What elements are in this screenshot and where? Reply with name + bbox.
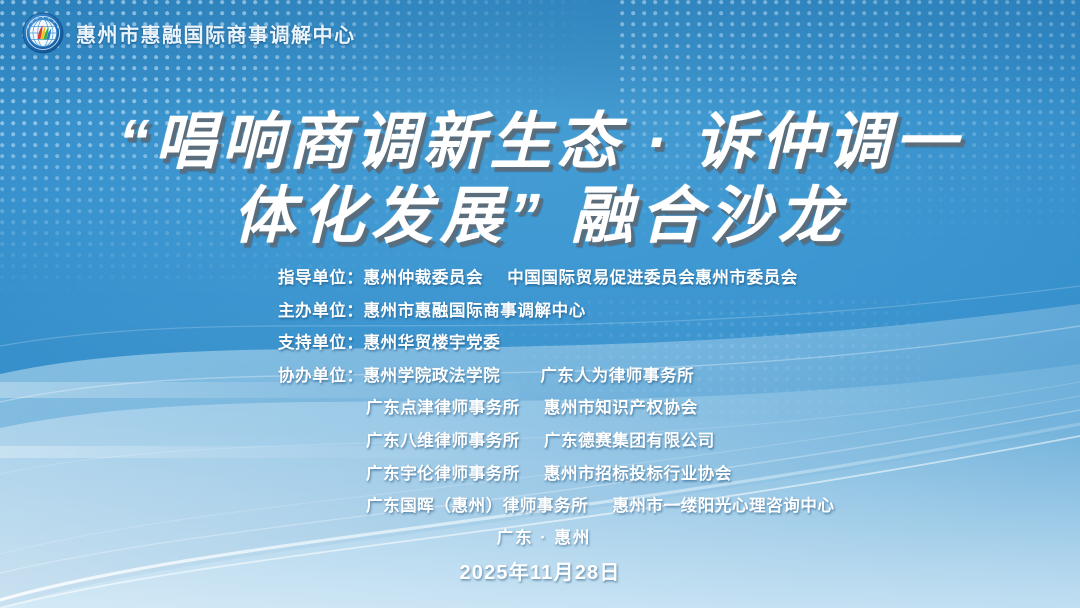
organizer-name: 广东德赛集团有限公司 — [544, 432, 715, 450]
organizer-row: 广东国晖（惠州）律师事务所惠州市一缕阳光心理咨询中心 — [278, 490, 835, 523]
organizer-role-label: 主办单位： — [278, 295, 364, 328]
page-title: “唱响商调新生态 · 诉仲调一 体化发展” 融合沙龙 — [0, 106, 1080, 254]
organizer-role-label: 指导单位： — [278, 262, 364, 295]
organizer-name: 广东人为律师事务所 — [540, 367, 694, 385]
organizer-row: 协办单位：惠州学院政法学院广东人为律师事务所 — [278, 360, 835, 393]
organizers-list: 指导单位：惠州仲裁委员会中国国际贸易促进委员会惠州市委员会主办单位：惠州市惠融国… — [278, 262, 835, 523]
organizer-row: 广东点津律师事务所惠州市知识产权协会 — [278, 392, 835, 425]
organizer-row: 广东八维律师事务所广东德赛集团有限公司 — [278, 425, 835, 458]
organizer-name: 广东八维律师事务所 — [366, 432, 520, 450]
organizer-name: 惠州市一缕阳光心理咨询中心 — [612, 497, 834, 515]
organizer-row: 广东宇伦律师事务所惠州市招标投标行业协会 — [278, 458, 835, 491]
organizer-name: 惠州市招标投标行业协会 — [544, 465, 732, 483]
organizer-role-label: 支持单位： — [278, 327, 364, 360]
organizer-name: 中国国际贸易促进委员会惠州市委员会 — [507, 269, 798, 287]
organizer-name: 广东点津律师事务所 — [366, 399, 520, 417]
organizer-row: 主办单位：惠州市惠融国际商事调解中心 — [278, 295, 835, 328]
organizer-row: 指导单位：惠州仲裁委员会中国国际贸易促进委员会惠州市委员会 — [278, 262, 835, 295]
organizer-name: 惠州华贸楼宇党委 — [364, 334, 501, 352]
organizer-name: 广东国晖（惠州）律师事务所 — [366, 497, 588, 515]
organizer-name: 广东宇伦律师事务所 — [366, 465, 520, 483]
page-title-line-2: 体化发展” 融合沙龙 — [0, 180, 1080, 254]
organizer-name: 惠州市知识产权协会 — [544, 399, 698, 417]
organizer-name: 惠州市惠融国际商事调解中心 — [364, 302, 586, 320]
event-location: 广东 · 惠州 — [0, 524, 1080, 548]
event-date: 2025年11月28日 — [0, 556, 1080, 585]
organizer-role-label: 协办单位： — [278, 360, 364, 393]
header-bar: 惠州市惠融国际商事调解中心 — [0, 0, 1080, 66]
event-footer: 广东 · 惠州 2025年11月28日 — [0, 524, 1080, 585]
poster-canvas: 惠州市惠融国际商事调解中心 “唱响商调新生态 · 诉仲调一 体化发展” 融合沙龙… — [0, 0, 1080, 608]
organizer-name: 惠州仲裁委员会 — [364, 269, 484, 287]
organizer-row: 支持单位：惠州华贸楼宇党委 — [278, 327, 835, 360]
organization-name: 惠州市惠融国际商事调解中心 — [76, 19, 356, 48]
page-title-line-1: “唱响商调新生态 · 诉仲调一 — [0, 106, 1080, 180]
organizer-name: 惠州学院政法学院 — [364, 367, 501, 385]
circular-globe-emblem-logo — [22, 12, 64, 54]
